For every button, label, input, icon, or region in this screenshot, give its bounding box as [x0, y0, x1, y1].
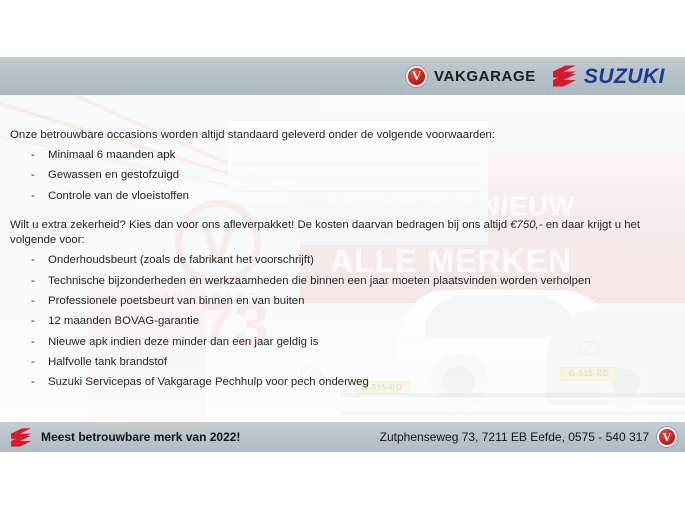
list-item: Controle van de vloeistoffen [10, 186, 675, 206]
list-item: Halfvolle tank brandstof [10, 352, 675, 372]
offer-price: €750,- [510, 219, 542, 231]
content-area: Onze betrouwbare occasions worden altijd… [0, 95, 685, 422]
intro-bullet-list: Minimaal 6 maanden apk Gewassen en gesto… [10, 145, 675, 206]
footer-address: Zutphenseweg 73, 7211 EB Eefde, 0575 - 5… [380, 431, 649, 443]
offer-bullet-list: Onderhoudsbeurt (zoals de fabrikant het … [10, 250, 675, 392]
list-item: Onderhoudsbeurt (zoals de fabrikant het … [10, 250, 675, 270]
vakgarage-emblem-letter: V [412, 69, 421, 82]
list-item: Nieuwe apk indien deze minder dan een ja… [10, 332, 675, 352]
offer-text-part-1: Wilt u extra zekerheid? Kies dan voor on… [10, 219, 510, 231]
list-item: Professionele poetsbeurt van binnen en v… [10, 291, 675, 311]
list-item: Minimaal 6 maanden apk [10, 145, 675, 165]
offer-paragraph: Wilt u extra zekerheid? Kies dan voor on… [10, 218, 675, 248]
list-item: Suzuki Servicepas of Vakgarage Pechhulp … [10, 372, 675, 392]
suzuki-brand[interactable]: SUZUKI [552, 65, 665, 87]
vakgarage-shield-icon: V [406, 66, 427, 87]
slide-root: VERKOOP NIEUW ALLE MERKEN VAKGARAGE 73 G… [0, 0, 685, 514]
list-item: Gewassen en gestofzuigd [10, 165, 675, 185]
list-item: Technische bijzonderheden en werkzaamhed… [10, 271, 675, 291]
vakgarage-shield-icon-footer: V [657, 427, 677, 447]
suzuki-wordmark: SUZUKI [584, 66, 665, 87]
paragraph-spacer [10, 206, 675, 218]
footer-tagline: Meest betrouwbare merk van 2022! [41, 431, 240, 443]
footer-bar: Meest betrouwbare merk van 2022! Zutphen… [0, 422, 685, 452]
suzuki-s-icon-footer [10, 428, 32, 447]
vakgarage-brand[interactable]: V VAKGARAGE [406, 66, 536, 87]
suzuki-s-icon [552, 65, 577, 87]
intro-paragraph: Onze betrouwbare occasions worden altijd… [10, 128, 675, 143]
header-bar: V VAKGARAGE SUZUKI [0, 57, 685, 95]
vakgarage-wordmark: VAKGARAGE [434, 69, 536, 84]
list-item: 12 maanden BOVAG-garantie [10, 311, 675, 331]
footer-emblem-letter: V [663, 431, 672, 443]
footer-address-group: Zutphenseweg 73, 7211 EB Eefde, 0575 - 5… [380, 427, 677, 447]
footer-tagline-group: Meest betrouwbare merk van 2022! [10, 428, 240, 447]
